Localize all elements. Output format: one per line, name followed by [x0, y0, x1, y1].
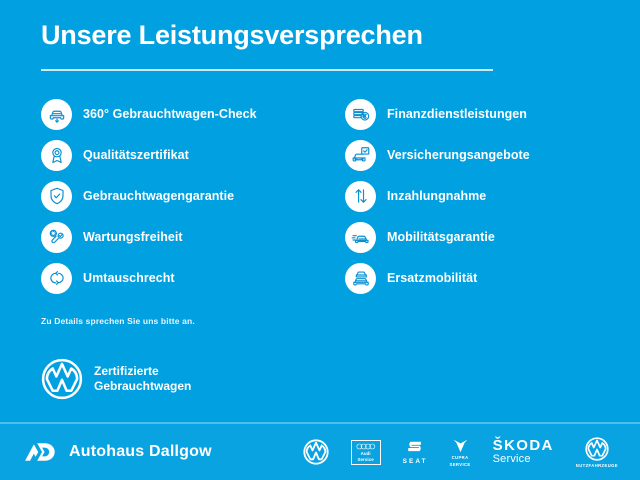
feature-item[interactable]: Finanzdienstleistungen	[345, 98, 601, 130]
brand-volkswagen[interactable]	[303, 433, 329, 471]
cupra-line2: SERVICE	[450, 462, 471, 467]
audi-badge: Audi Service	[351, 440, 381, 465]
feature-column-right: Finanzdienstleistungen Versicherungsange…	[345, 98, 601, 294]
feature-item[interactable]: Gebrauchtwagengarantie	[41, 180, 297, 212]
feature-label: Finanzdienstleistungen	[387, 107, 527, 121]
brand-vw-nutzfahrzeuge[interactable]: Nutzfahrzeuge	[576, 433, 618, 471]
car-shield-check-icon	[345, 140, 376, 171]
dealer-branding[interactable]: Autohaus Dallgow	[24, 441, 212, 463]
cupra-line1: CUPRA	[452, 455, 469, 460]
skoda-service-label: Service	[493, 453, 531, 466]
wrench-gear-icon	[41, 222, 72, 253]
promo-poster: Unsere Leistungsversprechen 360° Gebrauc…	[0, 0, 640, 480]
shield-check-icon	[41, 181, 72, 212]
detail-note: Zu Details sprechen Sie uns bitte an.	[41, 316, 195, 326]
brand-audi-service[interactable]: Audi Service	[351, 433, 381, 471]
autohaus-dallgow-logo-icon	[24, 441, 58, 463]
feature-item[interactable]: Qualitätszertifikat	[41, 139, 297, 171]
features-section: 360° Gebrauchtwagen-Check Qualitätszerti…	[41, 98, 601, 294]
feature-column-left: 360° Gebrauchtwagen-Check Qualitätszerti…	[41, 98, 297, 294]
feature-item[interactable]: Wartungsfreiheit	[41, 221, 297, 253]
brand-skoda-service[interactable]: ŠKODA Service	[493, 433, 554, 471]
seat-logo-icon	[406, 440, 424, 456]
brand-cupra-service[interactable]: CUPRA SERVICE	[450, 433, 471, 471]
feature-label: Wartungsfreiheit	[83, 230, 183, 244]
skoda-wordmark: ŠKODA	[493, 438, 554, 453]
feature-label: Gebrauchtwagengarantie	[83, 189, 234, 203]
feature-label: Ersatzmobilität	[387, 271, 477, 285]
dealer-name: Autohaus Dallgow	[69, 443, 212, 461]
certified-line2: Gebrauchtwagen	[94, 379, 191, 394]
feature-item[interactable]: Versicherungsangebote	[345, 139, 601, 171]
feature-item[interactable]: Ersatzmobilität	[345, 262, 601, 294]
feature-item[interactable]: Mobilitätsgarantie	[345, 221, 601, 253]
feature-label: Versicherungsangebote	[387, 148, 530, 162]
brand-seat[interactable]: SEAT	[403, 433, 428, 471]
feature-label: Umtauschrecht	[83, 271, 175, 285]
brand-logo-strip: Audi Service SEAT CUPRA SERVICE ŠKODA	[303, 433, 618, 471]
header: Unsere Leistungsversprechen	[41, 18, 501, 71]
money-euro-icon	[345, 99, 376, 130]
two-cars-icon	[345, 263, 376, 294]
feature-label: 360° Gebrauchtwagen-Check	[83, 107, 257, 121]
audi-line1: Audi	[361, 451, 371, 456]
feature-item[interactable]: Umtauschrecht	[41, 262, 297, 294]
feature-item[interactable]: 360° Gebrauchtwagen-Check	[41, 98, 297, 130]
vw-logo-icon	[303, 439, 329, 465]
vw-logo-icon	[41, 358, 83, 400]
certified-line1: Zertifizierte	[94, 364, 191, 379]
feature-label: Inzahlungnahme	[387, 189, 486, 203]
feature-label: Mobilitätsgarantie	[387, 230, 495, 244]
cupra-logo-icon	[452, 438, 469, 453]
certified-text: Zertifizierte Gebrauchtwagen	[94, 364, 191, 394]
up-down-arrows-icon	[345, 181, 376, 212]
vw-nutzfahrzeuge-caption: Nutzfahrzeuge	[576, 463, 618, 468]
car-motion-icon	[345, 222, 376, 253]
exchange-arrows-icon	[41, 263, 72, 294]
audi-rings-icon	[356, 443, 376, 450]
vw-logo-icon	[585, 437, 609, 461]
car-inspection-icon	[41, 99, 72, 130]
audi-line2: Service	[357, 457, 373, 462]
page-title: Unsere Leistungsversprechen	[41, 18, 501, 52]
feature-item[interactable]: Inzahlungnahme	[345, 180, 601, 212]
title-divider	[41, 69, 493, 71]
footer-bar: Autohaus Dallgow Audi S	[0, 422, 640, 480]
seat-wordmark: SEAT	[403, 458, 428, 465]
certified-used-cars-block: Zertifizierte Gebrauchtwagen	[41, 358, 191, 400]
feature-label: Qualitätszertifikat	[83, 148, 189, 162]
award-ribbon-icon	[41, 140, 72, 171]
